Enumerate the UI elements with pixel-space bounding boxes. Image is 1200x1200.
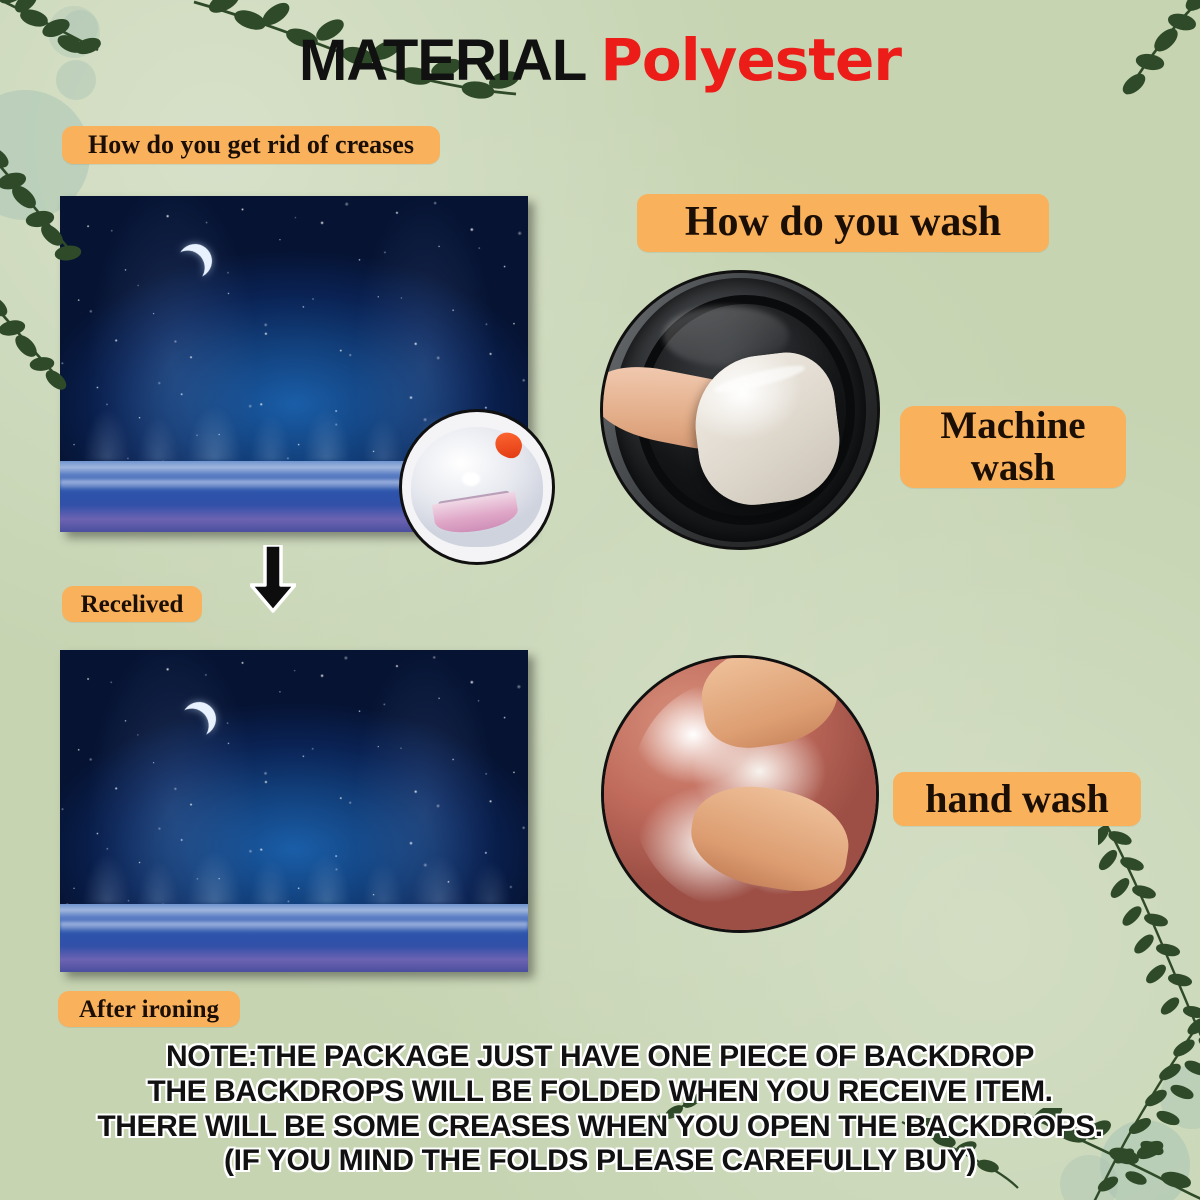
badge-hand-wash: hand wash	[893, 772, 1141, 826]
infographic-canvas: MATERIAL Polyester How do you get rid of…	[0, 0, 1200, 1200]
note-line-1: NOTE:THE PACKAGE JUST HAVE ONE PIECE OF …	[0, 1040, 1200, 1075]
page-title: MATERIAL Polyester	[0, 26, 1200, 94]
badge-after-ironing: After ironing	[58, 991, 240, 1027]
badge-how-to-remove-creases: How do you get rid of creases	[62, 126, 440, 164]
note-line-3: THERE WILL BE SOME CREASES WHEN YOU OPEN…	[0, 1110, 1200, 1145]
down-arrow-icon	[250, 545, 296, 613]
badge-how-do-you-wash: How do you wash	[637, 194, 1049, 252]
backdrop-photo-after-ironing	[60, 650, 528, 972]
iron-inset-photo	[399, 409, 555, 565]
badge-machine-wash: Machine wash	[900, 406, 1126, 488]
title-material: MATERIAL	[299, 28, 585, 93]
machine-wash-line2: wash	[971, 447, 1056, 489]
note-line-2: THE BACKDROPS WILL BE FOLDED WHEN YOU RE…	[0, 1075, 1200, 1110]
leaf-fern-icon	[1098, 820, 1200, 1060]
badge-received: Recelived	[62, 586, 202, 622]
note-block: NOTE:THE PACKAGE JUST HAVE ONE PIECE OF …	[0, 1040, 1200, 1179]
note-line-4: (IF YOU MIND THE FOLDS PLEASE CAREFULLY …	[0, 1144, 1200, 1179]
horizon-band	[60, 904, 528, 972]
iron-highlight	[462, 472, 480, 486]
treeline	[60, 830, 528, 904]
machine-wash-photo	[600, 270, 880, 550]
hand-wash-photo	[601, 655, 879, 933]
title-polyester: Polyester	[600, 26, 901, 94]
machine-wash-line1: Machine	[940, 405, 1085, 447]
night-sky-scene	[60, 650, 528, 972]
